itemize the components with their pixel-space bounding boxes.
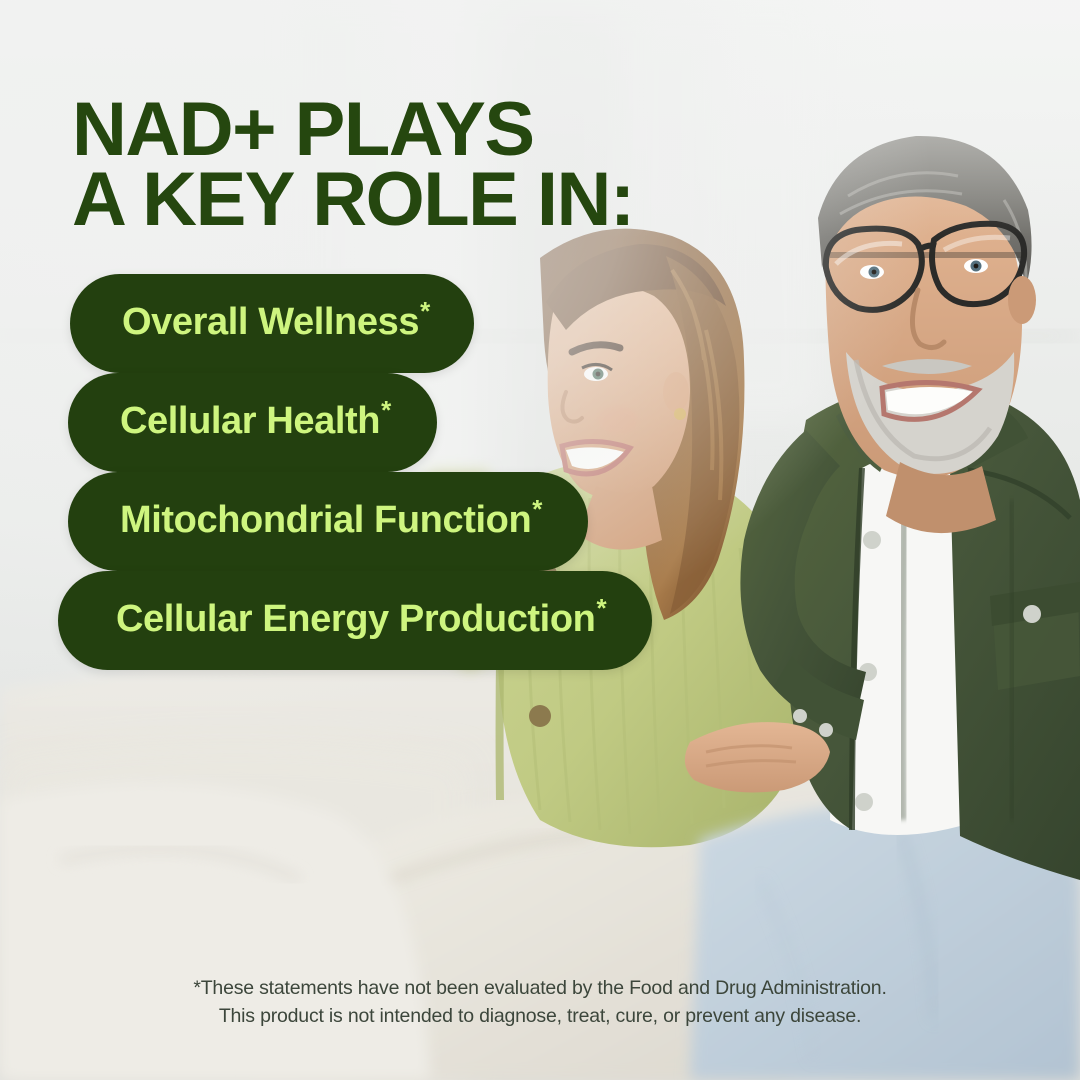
list-item: Cellular Energy Production*: [58, 571, 1080, 670]
benefit-pill-cellular-health[interactable]: Cellular Health*: [68, 373, 437, 472]
fda-disclaimer: *These statements have not been evaluate…: [0, 975, 1080, 1030]
benefit-label: Mitochondrial Function: [120, 499, 531, 542]
benefit-label: Cellular Energy Production: [116, 598, 595, 641]
benefit-pill-mitochondrial-function[interactable]: Mitochondrial Function*: [68, 472, 588, 571]
page-title: NAD+ PLAYS A KEY ROLE IN:: [72, 95, 634, 235]
list-item: Mitochondrial Function*: [68, 472, 1080, 571]
benefit-label: Overall Wellness: [122, 301, 419, 344]
footnote-asterisk: *: [381, 397, 391, 423]
list-item: Cellular Health*: [68, 373, 1080, 472]
promo-graphic: NAD+ PLAYS A KEY ROLE IN: Overall Wellne…: [0, 0, 1080, 1080]
list-item: Overall Wellness*: [70, 274, 1080, 373]
benefit-label: Cellular Health: [120, 400, 380, 443]
footnote-asterisk: *: [596, 595, 606, 621]
benefit-pill-overall-wellness[interactable]: Overall Wellness*: [70, 274, 474, 373]
benefit-pill-cellular-energy-production[interactable]: Cellular Energy Production*: [58, 571, 652, 670]
footnote-asterisk: *: [532, 496, 542, 522]
benefits-list: Overall Wellness* Cellular Health* Mitoc…: [0, 274, 1080, 670]
footnote-asterisk: *: [420, 298, 430, 324]
